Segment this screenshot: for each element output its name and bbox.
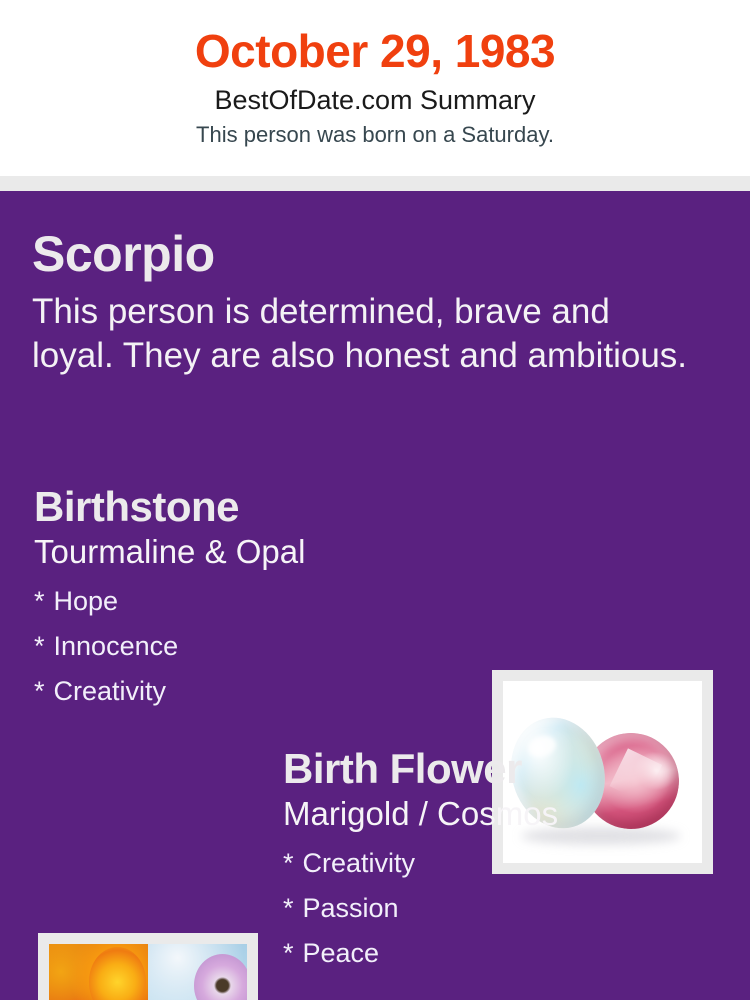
page-header: October 29, 1983 BestOfDate.com Summary … bbox=[0, 0, 750, 176]
zodiac-section: Scorpio This person is determined, brave… bbox=[32, 224, 712, 378]
header-divider bbox=[0, 176, 750, 191]
birth-flower-trait-label: Peace bbox=[303, 938, 380, 968]
birthstone-trait-label: Creativity bbox=[54, 676, 167, 706]
birth-flower-trait-list: *Creativity *Passion *Peace bbox=[283, 841, 723, 976]
birthstone-name: Tourmaline & Opal bbox=[34, 531, 474, 573]
asterisk-icon: * bbox=[34, 676, 45, 706]
site-summary-subtitle: BestOfDate.com Summary bbox=[0, 82, 750, 118]
summary-panel: Scorpio This person is determined, brave… bbox=[0, 191, 750, 1000]
list-item: *Hope bbox=[34, 579, 474, 624]
asterisk-icon: * bbox=[283, 938, 294, 968]
birth-flower-section: Birth Flower Marigold / Cosmos *Creativi… bbox=[283, 743, 723, 976]
marigold-photo-half bbox=[49, 944, 148, 1000]
birth-flower-name: Marigold / Cosmos bbox=[283, 793, 723, 835]
birthstone-section: Birthstone Tourmaline & Opal *Hope *Inno… bbox=[34, 481, 474, 714]
birth-flower-heading: Birth Flower bbox=[283, 743, 723, 795]
birth-flower-trait-label: Passion bbox=[303, 893, 399, 923]
page-title-date: October 29, 1983 bbox=[0, 22, 750, 80]
birth-flower-trait-label: Creativity bbox=[303, 848, 416, 878]
zodiac-description: This person is determined, brave and loy… bbox=[32, 290, 692, 378]
birthstone-heading: Birthstone bbox=[34, 481, 474, 533]
list-item: *Creativity bbox=[283, 841, 723, 886]
birth-flower-image bbox=[49, 944, 247, 1000]
cosmos-flower-icon bbox=[194, 954, 247, 1000]
birth-flower-image-frame bbox=[38, 933, 258, 1000]
zodiac-sign-title: Scorpio bbox=[32, 224, 712, 284]
asterisk-icon: * bbox=[283, 848, 294, 878]
list-item: *Passion bbox=[283, 886, 723, 931]
asterisk-icon: * bbox=[283, 893, 294, 923]
list-item: *Peace bbox=[283, 931, 723, 976]
cosmos-photo-half bbox=[148, 944, 247, 1000]
birth-day-of-week-note: This person was born on a Saturday. bbox=[0, 120, 750, 150]
birthstone-trait-label: Innocence bbox=[54, 631, 179, 661]
birthstone-trait-label: Hope bbox=[54, 586, 119, 616]
birthstone-trait-list: *Hope *Innocence *Creativity bbox=[34, 579, 474, 714]
list-item: *Innocence bbox=[34, 624, 474, 669]
asterisk-icon: * bbox=[34, 631, 45, 661]
list-item: *Creativity bbox=[34, 669, 474, 714]
asterisk-icon: * bbox=[34, 586, 45, 616]
